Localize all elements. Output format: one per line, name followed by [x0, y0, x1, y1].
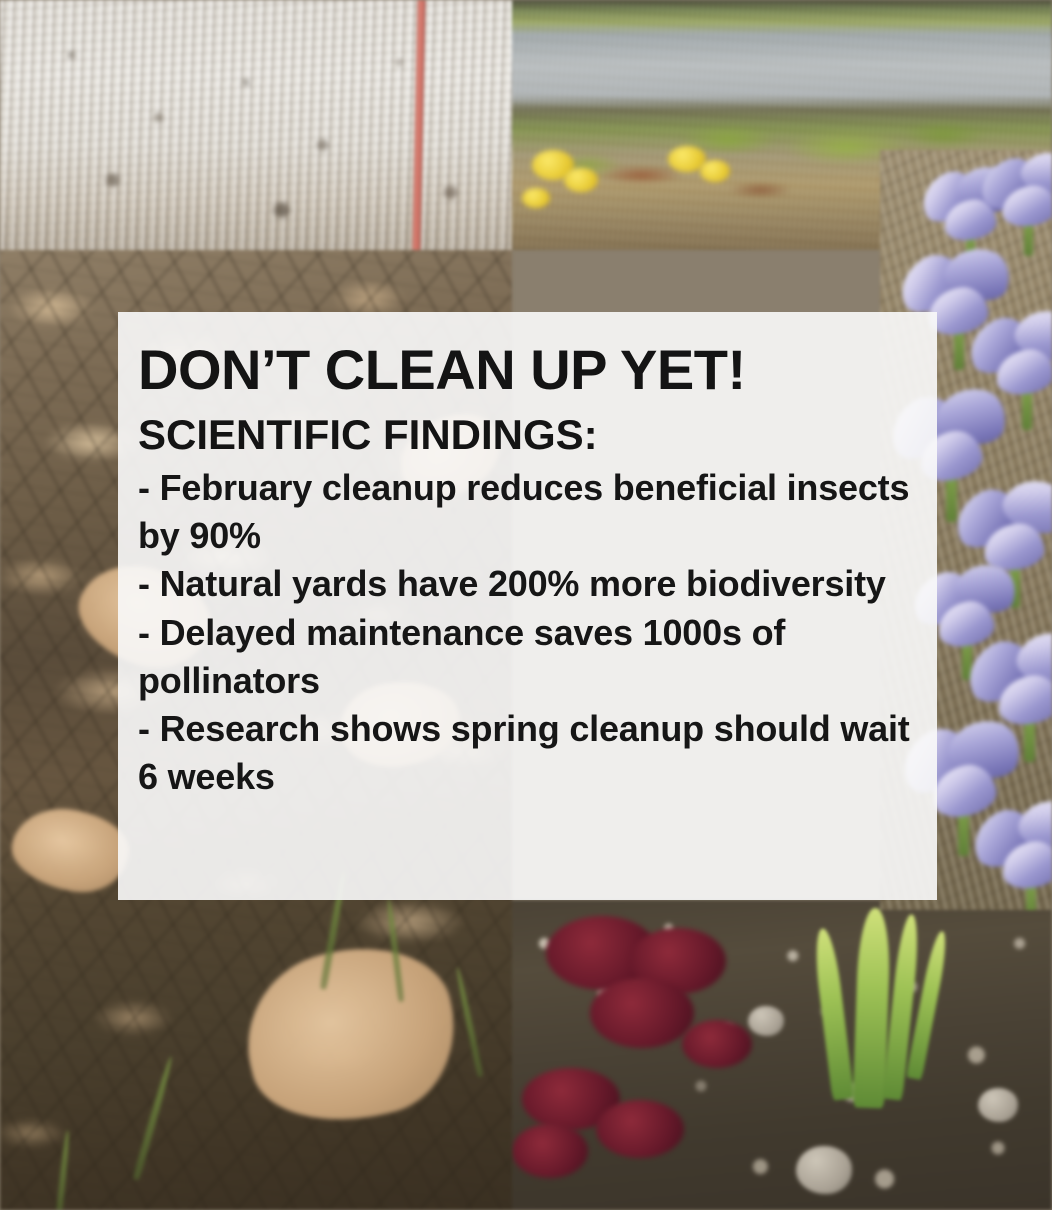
text-overlay-card: DON’T CLEAN UP YET! SCIENTIFIC FINDINGS:…	[118, 312, 937, 900]
sedum-rosette	[682, 1020, 752, 1068]
iris-flower	[972, 790, 1052, 906]
photo-gravel-bed-with-red-stake	[0, 0, 512, 250]
findings-list: - February cleanup reduces beneficial in…	[138, 464, 911, 802]
finding-item: - Natural yards have 200% more biodivers…	[138, 560, 911, 608]
gravel-speckle-texture	[0, 0, 512, 250]
finding-item: - Research shows spring cleanup should w…	[138, 705, 911, 801]
finding-item: - Delayed maintenance saves 1000s of pol…	[138, 609, 911, 705]
poster: DON’T CLEAN UP YET! SCIENTIFIC FINDINGS:…	[0, 0, 1052, 1210]
poster-subtitle: SCIENTIFIC FINDINGS:	[138, 414, 911, 456]
aconite-flower	[564, 168, 598, 192]
iris-flower	[976, 150, 1052, 246]
pebble	[748, 1006, 784, 1036]
photo-gravel-soil-with-sedum-and-bulb-shoots	[512, 900, 1052, 1210]
sedum-rosette	[590, 978, 694, 1048]
aconite-flower	[522, 188, 550, 208]
finding-item: - February cleanup reduces beneficial in…	[138, 464, 911, 560]
sedum-rosette	[596, 1100, 684, 1158]
aconite-flower	[700, 160, 730, 182]
sedum-rosette	[512, 1124, 588, 1178]
pebble	[796, 1146, 852, 1194]
poster-title: DON’T CLEAN UP YET!	[138, 342, 911, 398]
pebble	[978, 1088, 1018, 1122]
